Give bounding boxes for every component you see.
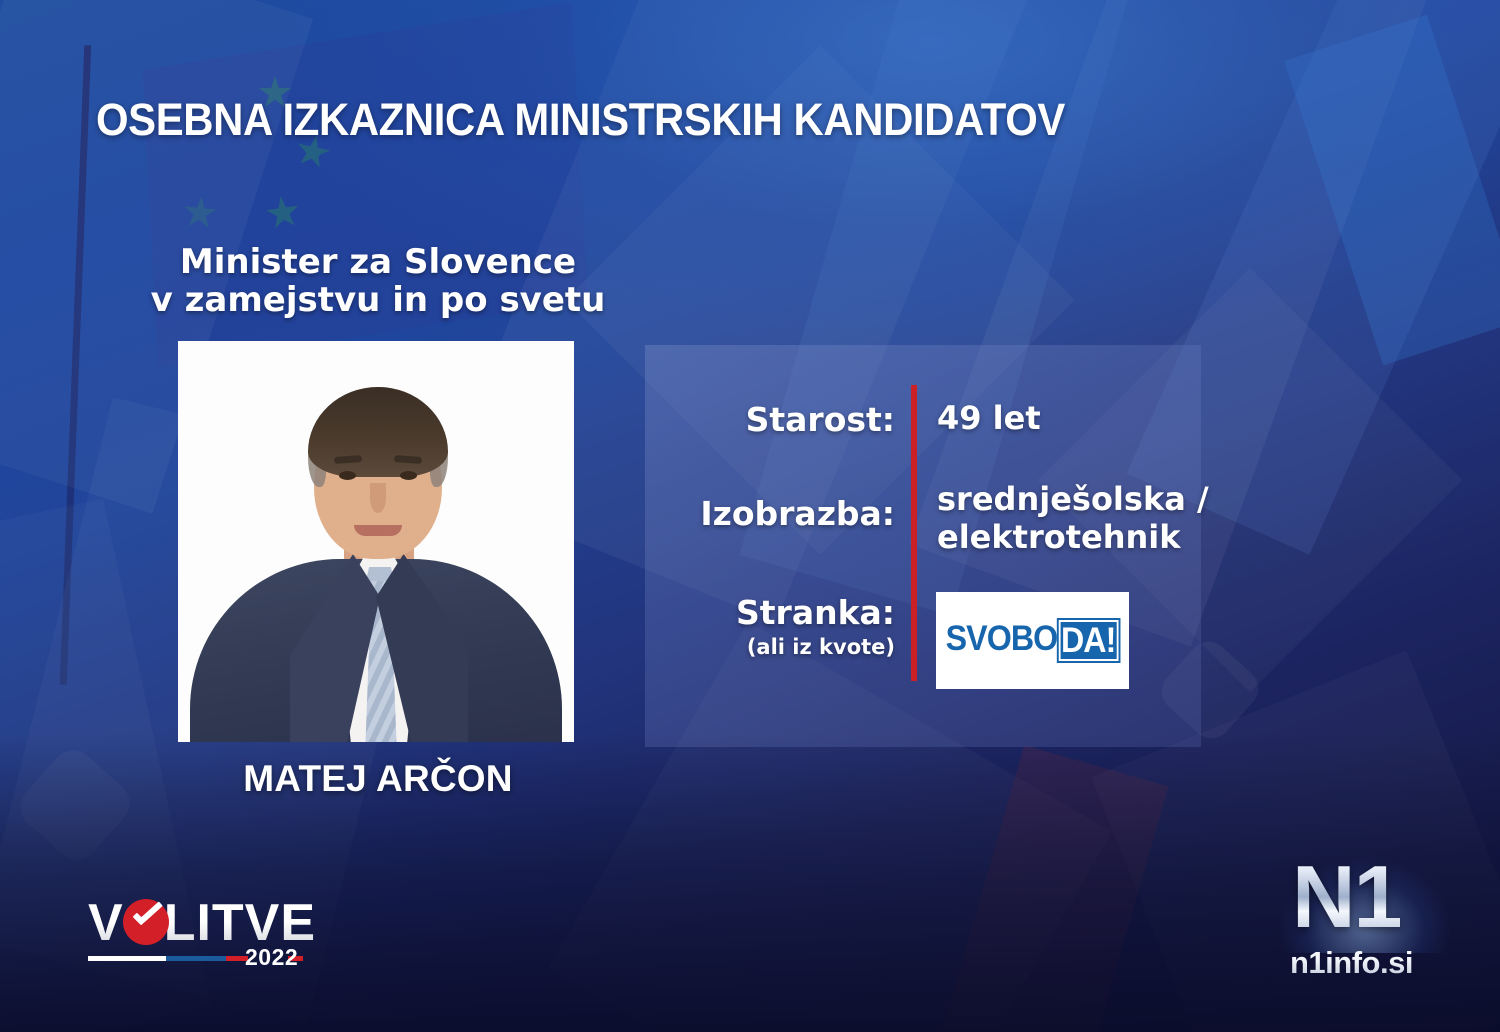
age-label: Starost: <box>630 400 895 439</box>
election-logo-volitve: VLITVE 2022 <box>88 893 303 969</box>
svoboda-part2: DA! <box>1057 618 1120 663</box>
n1-website-label: n1info.si <box>1290 945 1413 981</box>
portrait-nose <box>370 483 386 513</box>
age-value: 49 let <box>937 400 1041 438</box>
candidate-name: MATEJ ARČON <box>148 758 608 800</box>
office-title-line2: v zamejstvu in po svetu <box>148 281 608 319</box>
page-title: OSEBNA IZKAZNICA MINISTRSKIH KANDIDATOV <box>96 94 1065 146</box>
panel-divider <box>911 385 917 681</box>
rule-segment-white <box>88 956 166 961</box>
n1-wordmark: N1 <box>1292 853 1401 941</box>
party-label: Stranka: (ali iz kvote) <box>630 593 895 659</box>
svoboda-wordmark: SVOBODA! <box>945 618 1119 663</box>
education-value-line2: elektrotehnik <box>937 519 1209 557</box>
portrait-eye-right <box>400 471 417 480</box>
party-logo-svoboda: SVOBODA! <box>936 592 1129 689</box>
office-title: Minister za Slovence v zamejstvu in po s… <box>148 243 608 320</box>
checkmark-icon <box>131 905 163 931</box>
svoboda-part1: SVOBO <box>945 618 1057 663</box>
party-label-sublabel: (ali iz kvote) <box>630 635 895 659</box>
party-label-main: Stranka: <box>736 593 895 632</box>
volitve-letter-v: V <box>88 893 124 953</box>
office-title-line1: Minister za Slovence <box>148 243 608 281</box>
portrait-mouth <box>354 525 402 536</box>
election-year: 2022 <box>245 944 298 971</box>
education-label: Izobrazba: <box>630 494 895 533</box>
education-value-line1: srednješolska / <box>937 481 1209 519</box>
broadcaster-logo-n1: N1 n1info.si <box>1270 853 1460 978</box>
portrait-illustration <box>178 341 574 742</box>
candidate-photo <box>178 341 574 742</box>
portrait-eye-left <box>339 471 356 480</box>
education-value: srednješolska / elektrotehnik <box>937 481 1209 557</box>
infographic-canvas: OSEBNA IZKAZNICA MINISTRSKIH KANDIDATOV … <box>0 0 1500 1032</box>
rule-segment-blue <box>166 956 226 961</box>
